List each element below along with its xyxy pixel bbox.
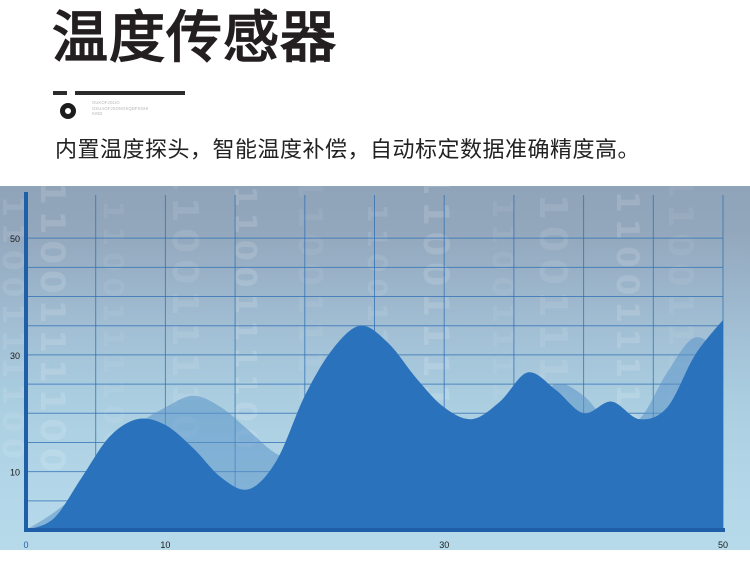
page-title: 温度传感器 [52, 8, 337, 70]
micro-caption-line-1: OUKOFJGUO [92, 100, 120, 105]
y-axis-tick-label: 30 [10, 351, 20, 361]
ring-icon [60, 103, 76, 119]
chart-band: 1100111100110011110011001111001100111100… [0, 186, 750, 550]
x-axis-tick-label: 0 [23, 540, 28, 550]
header-section: 温度传感器 OUKOFJGUO OSUAOFJSONGKQDFSGHI KIND… [0, 0, 750, 186]
x-axis-tick-label: 30 [439, 540, 449, 550]
y-axis-tick-label: 50 [10, 234, 20, 244]
chart-series-series-front [26, 320, 723, 530]
ring-icon-inner [65, 108, 71, 114]
x-axis-tick-label: 10 [160, 540, 170, 550]
title-divider [53, 88, 193, 98]
page-subtitle: 内置温度探头，智能温度补偿，自动标定数据准确精度高。 [55, 136, 640, 166]
divider-dash-short [53, 91, 67, 95]
band-bottom-spacer [0, 550, 750, 561]
micro-caption-line-3: KIND [92, 111, 103, 116]
badge-row: OUKOFJGUO OSUAOFJSONGKQDFSGHI KIND [60, 100, 460, 126]
micro-caption-line-2: OSUAOFJSONGKQDFSGHI [92, 106, 149, 111]
divider-dash-long [75, 91, 185, 95]
x-axis-tick-label: 50 [718, 540, 728, 550]
product-banner: 温度传感器 OUKOFJGUO OSUAOFJSONGKQDFSGHI KIND… [0, 0, 750, 561]
y-axis-tick-label: 10 [10, 468, 20, 478]
area-chart: 1030500103050 [0, 186, 750, 550]
micro-caption: OUKOFJGUO OSUAOFJSONGKQDFSGHI KIND [92, 100, 352, 117]
